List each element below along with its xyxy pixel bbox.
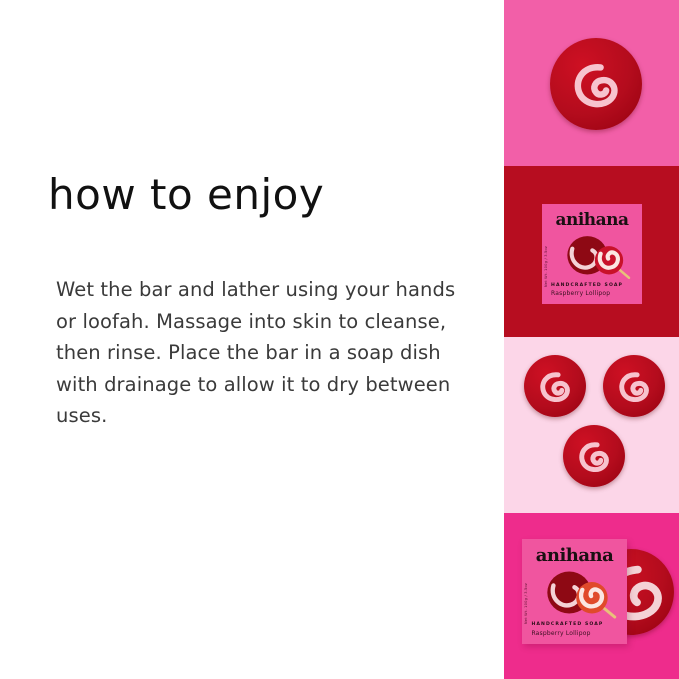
variant-label: Raspberry Lollipop: [551, 290, 610, 297]
lollipop-artwork-icon: [530, 568, 622, 621]
image-panel-single-soap: [504, 0, 679, 166]
page-title: how to enjoy: [48, 172, 324, 218]
brand-name: anihana: [549, 212, 635, 229]
lollipop-artwork-icon: [550, 232, 638, 282]
soap-bar-icon: [563, 425, 625, 487]
soap-bar-icon: [603, 355, 665, 417]
variant-label: Raspberry Lollipop: [531, 630, 590, 637]
image-panel-boxed-product: anihana Net Wt. 100g / 3.5oz HANDCRAFTED…: [504, 166, 679, 337]
image-panel-box-and-soap: anihana Net Wt. 100g / 3.5oz HANDCRAFTED…: [504, 513, 679, 679]
image-panel-three-soaps: [504, 337, 679, 513]
handcrafted-label: HANDCRAFTED SOAP: [551, 283, 623, 288]
soap-bar-icon: [524, 355, 586, 417]
product-detail-page: how to enjoy Wet the bar and lather usin…: [0, 0, 679, 679]
product-box: anihana Net Wt. 100g / 3.5oz HANDCRAFTED…: [522, 539, 627, 644]
net-weight-label: Net Wt. 100g / 3.5oz: [544, 246, 548, 287]
net-weight-label: Net Wt. 100g / 3.5oz: [524, 583, 528, 624]
brand-name: anihana: [529, 547, 619, 565]
instructions-column: how to enjoy Wet the bar and lather usin…: [0, 0, 504, 679]
product-box: anihana Net Wt. 100g / 3.5oz HANDCRAFTED…: [542, 204, 642, 304]
product-image-strip: anihana Net Wt. 100g / 3.5oz HANDCRAFTED…: [504, 0, 679, 679]
instructions-paragraph: Wet the bar and lather using your hands …: [56, 274, 466, 432]
handcrafted-label: HANDCRAFTED SOAP: [531, 622, 603, 627]
soap-bar-icon: [550, 38, 642, 130]
